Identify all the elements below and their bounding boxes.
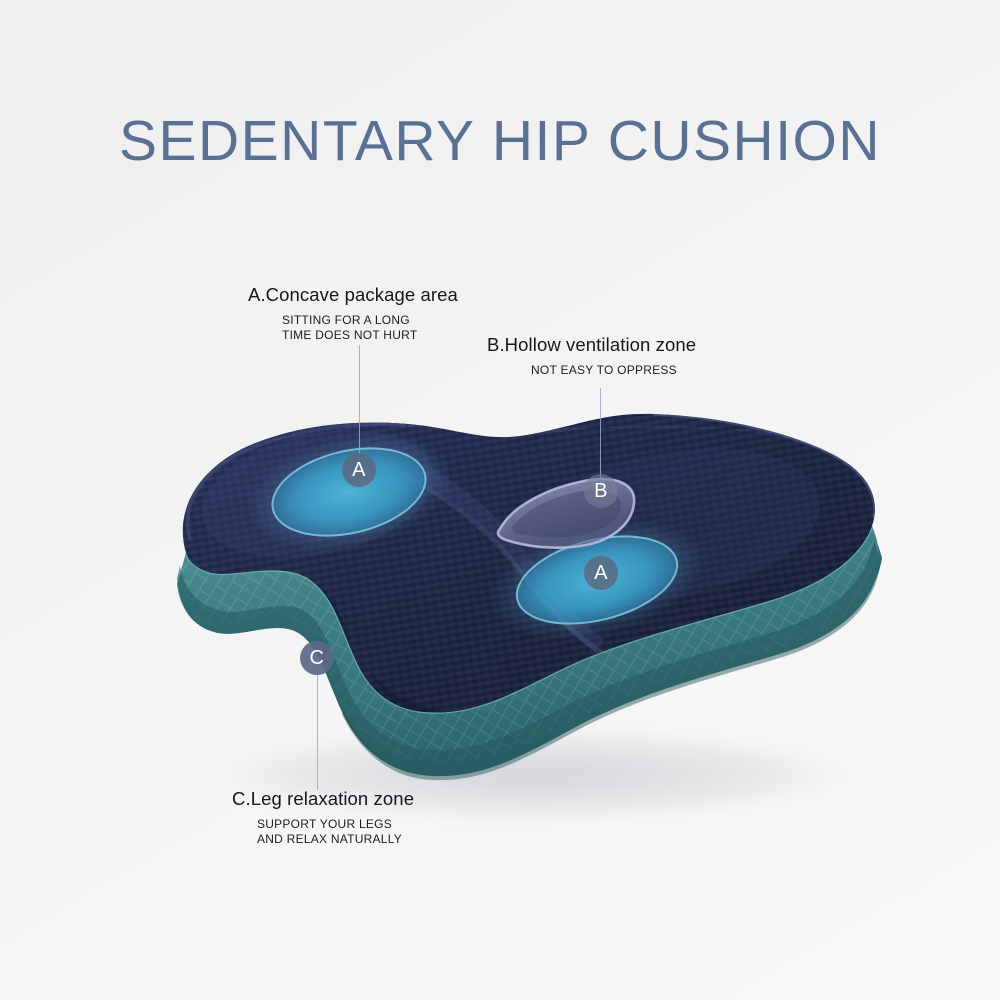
callout-b-heading: B.Hollow ventilation zone [487,334,696,356]
callout-a-subtext: SITTING FOR A LONG TIME DOES NOT HURT [282,313,458,342]
callout-c: C.Leg relaxation zone SUPPORT YOUR LEGS … [232,788,414,846]
marker-b[interactable]: B [584,474,618,508]
callout-c-heading: C.Leg relaxation zone [232,788,414,810]
leader-line-c [317,672,318,790]
marker-c[interactable]: C [300,641,334,675]
callout-c-subtext-line1: SUPPORT YOUR LEGS [257,817,414,832]
callout-a-subtext-line2: TIME DOES NOT HURT [282,328,458,343]
callout-a-subtext-line1: SITTING FOR A LONG [282,313,458,328]
callout-a-heading: A.Concave package area [248,284,458,306]
callout-a: A.Concave package area SITTING FOR A LON… [248,284,458,342]
callout-b-subtext-line1: NOT EASY TO OPPRESS [531,363,696,378]
infographic-stage: SEDENTARY HIP CUSHION [0,0,1000,1000]
leader-line-b [600,388,601,488]
marker-a-upper[interactable]: A [342,453,376,487]
product-illustration [0,0,1000,1000]
callout-b-subtext: NOT EASY TO OPPRESS [531,363,696,378]
callout-c-subtext: SUPPORT YOUR LEGS AND RELAX NATURALLY [257,817,414,846]
leader-line-a [359,345,360,470]
callout-b: B.Hollow ventilation zone NOT EASY TO OP… [487,334,696,378]
marker-a-lower[interactable]: A [584,556,618,590]
callout-c-subtext-line2: AND RELAX NATURALLY [257,832,414,847]
